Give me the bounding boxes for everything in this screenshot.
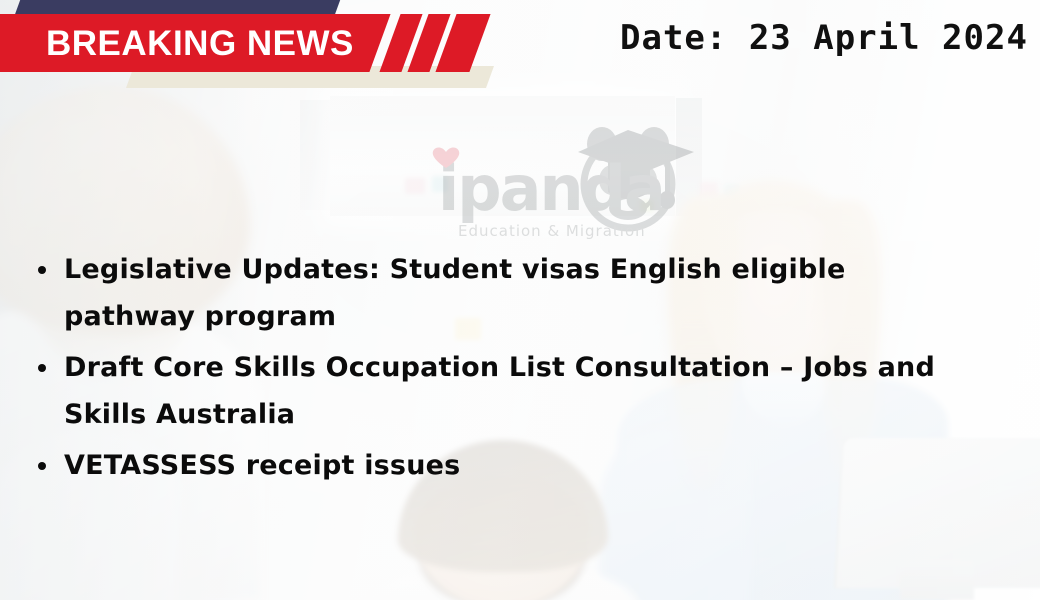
breaking-news-label: BREAKING NEWS <box>46 23 376 65</box>
date-label: Date: 23 April 2024 <box>620 18 1028 58</box>
headline-list: Legislative Updates: Student visas Engli… <box>26 246 986 493</box>
ipanda-logo: ipanda Education & Migration <box>432 122 696 242</box>
breaking-news-poster: ipanda Education & Migration BREAKING NE… <box>0 0 1040 600</box>
list-item: Draft Core Skills Occupation List Consul… <box>26 344 986 438</box>
list-item: Legislative Updates: Student visas Engli… <box>26 246 986 340</box>
svg-text:ipanda: ipanda <box>438 152 664 225</box>
svg-text:Education & Migration: Education & Migration <box>458 222 646 240</box>
list-item: VETASSESS receipt issues <box>26 442 986 489</box>
